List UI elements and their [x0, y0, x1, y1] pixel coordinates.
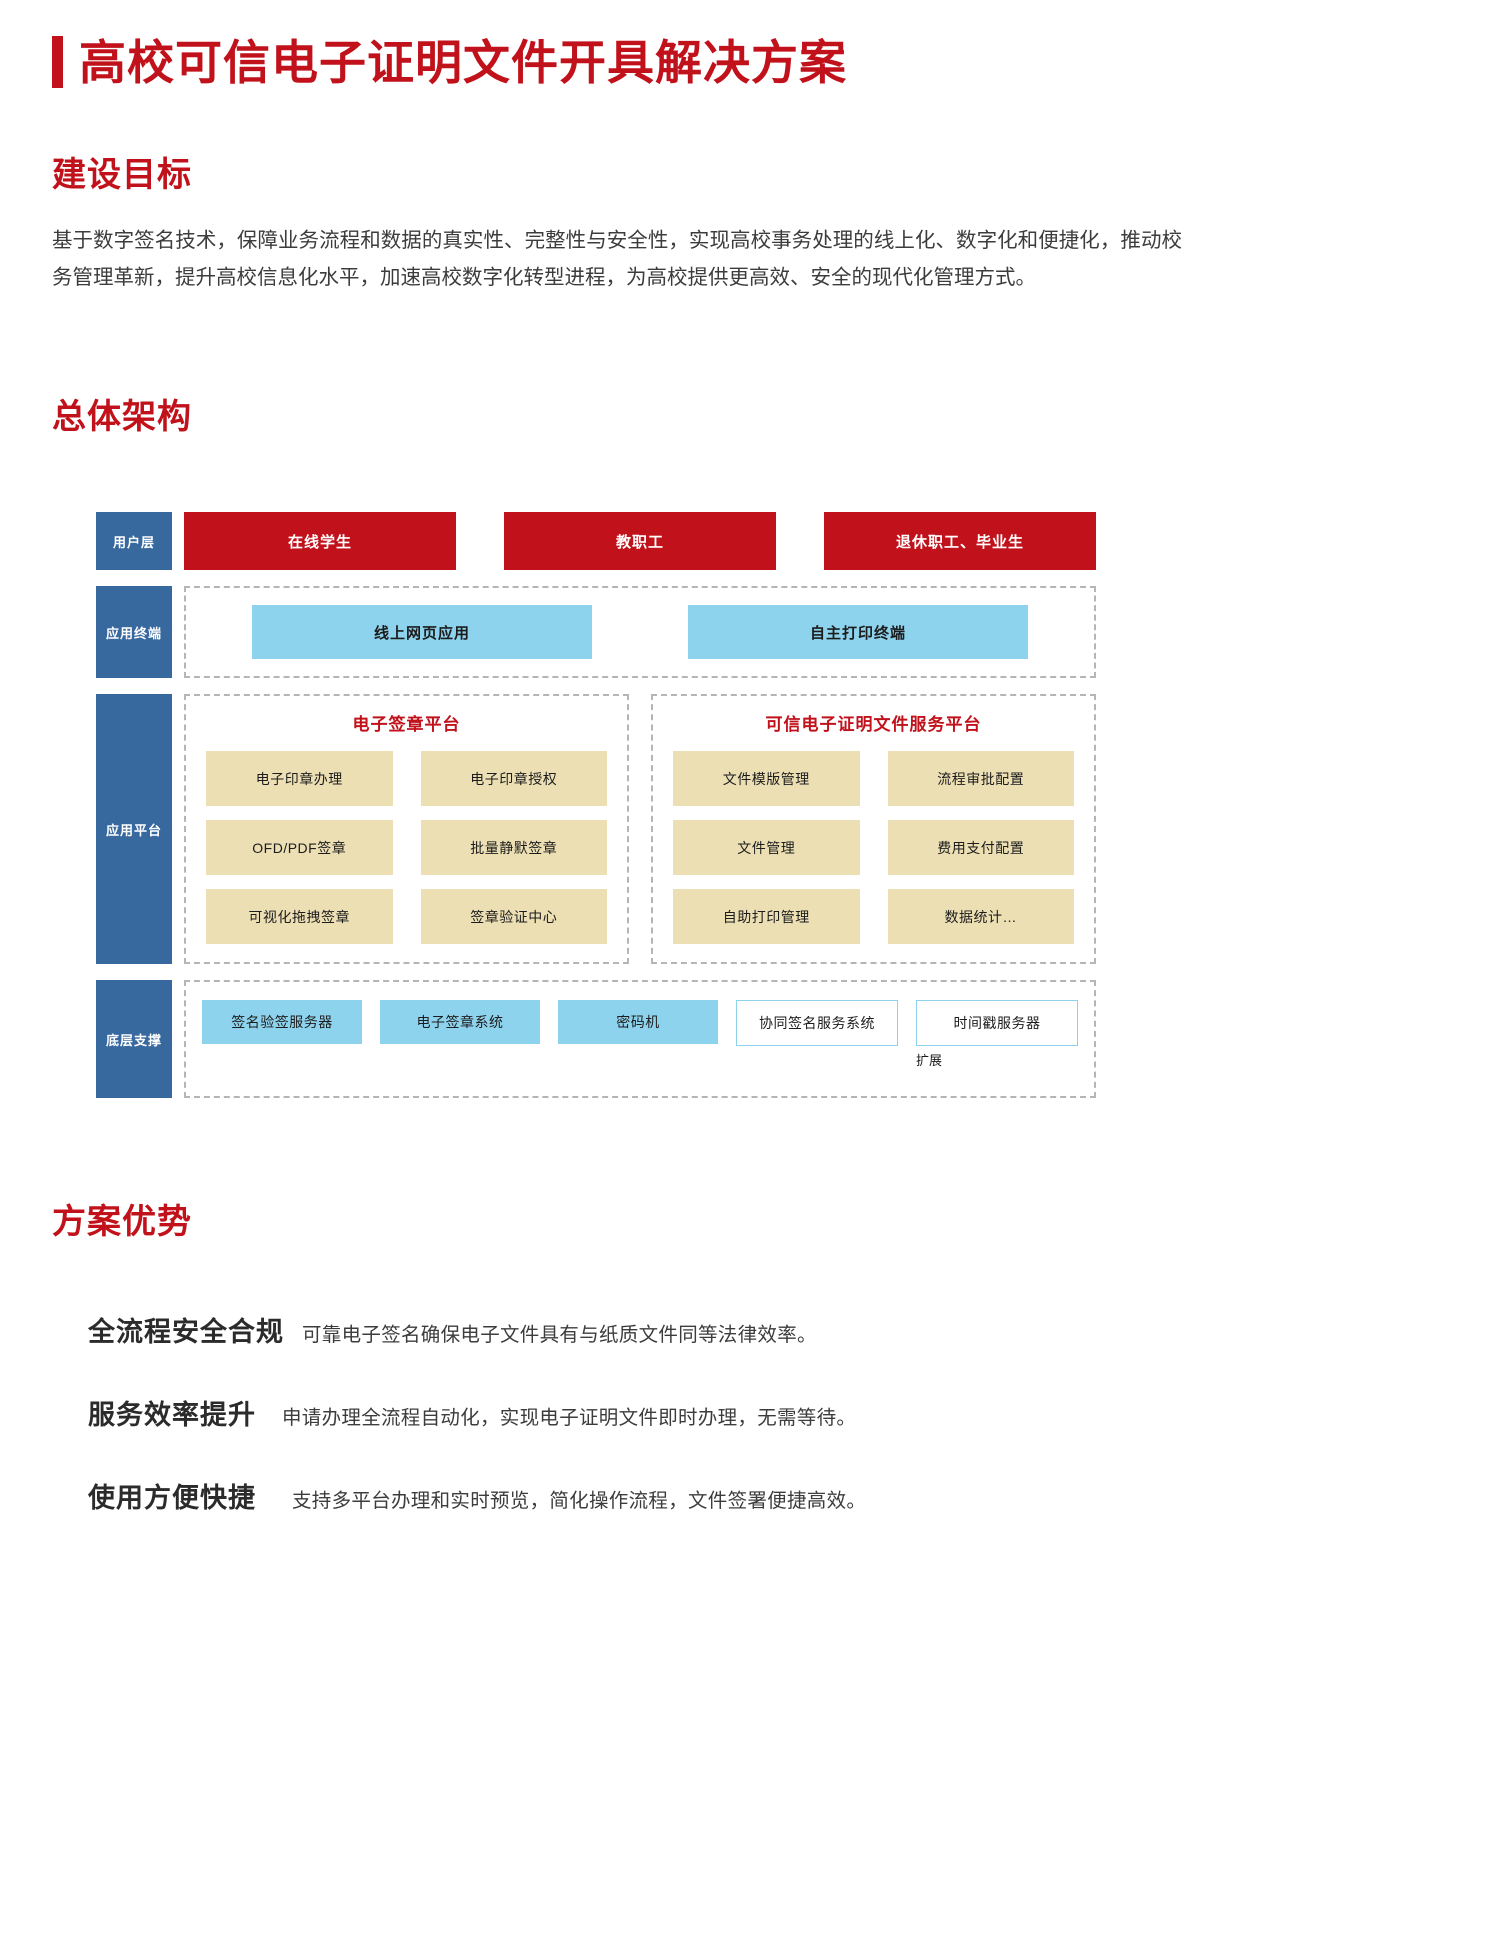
user-box-students[interactable]: 在线学生 — [184, 512, 456, 570]
advantage-item: 使用方便快捷 支持多平台办理和实时预览，简化操作流程，文件签署便捷高效。 — [88, 1476, 1188, 1515]
layer-label-terminal: 应用终端 — [96, 586, 172, 678]
platform-trusted-doc-modules: 文件模版管理 流程审批配置 文件管理 费用支付配置 自助打印管理 数据统计… — [673, 751, 1074, 944]
user-box-retired-alumni[interactable]: 退休职工、毕业生 — [824, 512, 1096, 570]
advantages-list: 全流程安全合规 可靠电子签名确保电子文件具有与纸质文件同等法律效率。 服务效率提… — [88, 1310, 1188, 1559]
module-payment-config[interactable]: 费用支付配置 — [888, 820, 1075, 875]
support-box-crypto-machine[interactable]: 密码机 — [558, 1000, 718, 1044]
terminal-box-web-app[interactable]: 线上网页应用 — [252, 605, 592, 659]
advantage-term: 全流程安全合规 — [88, 1310, 284, 1349]
advantage-description: 申请办理全流程自动化，实现电子证明文件即时办理，无需等待。 — [282, 1401, 856, 1430]
advantage-item: 服务效率提升 申请办理全流程自动化，实现电子证明文件即时办理，无需等待。 — [88, 1393, 1188, 1432]
platform-trusted-doc-title: 可信电子证明文件服务平台 — [673, 710, 1074, 735]
module-approval-config[interactable]: 流程审批配置 — [888, 751, 1075, 806]
module-template-management[interactable]: 文件模版管理 — [673, 751, 860, 806]
module-data-statistics[interactable]: 数据统计… — [888, 889, 1075, 944]
section-heading-architecture: 总体架构 — [52, 400, 192, 434]
advantage-item: 全流程安全合规 可靠电子签名确保电子文件具有与纸质文件同等法律效率。 — [88, 1310, 1188, 1349]
arch-row-terminal-layer: 应用终端 线上网页应用 自主打印终端 — [96, 586, 1096, 678]
terminal-layer-group: 线上网页应用 自主打印终端 — [184, 586, 1096, 678]
user-box-staff[interactable]: 教职工 — [504, 512, 776, 570]
advantage-term: 服务效率提升 — [88, 1393, 256, 1432]
module-seal-apply[interactable]: 电子印章办理 — [206, 751, 393, 806]
layer-label-platform: 应用平台 — [96, 694, 172, 964]
module-self-print-management[interactable]: 自助打印管理 — [673, 889, 860, 944]
layer-label-support: 底层支撑 — [96, 980, 172, 1098]
module-ofd-pdf-sign[interactable]: OFD/PDF签章 — [206, 820, 393, 875]
support-box-esign-system[interactable]: 电子签章系统 — [380, 1000, 540, 1044]
platform-esign-title: 电子签章平台 — [206, 710, 607, 735]
terminal-box-self-print[interactable]: 自主打印终端 — [688, 605, 1028, 659]
platform-esign-modules: 电子印章办理 电子印章授权 OFD/PDF签章 批量静默签章 可视化拖拽签章 签… — [206, 751, 607, 944]
platform-layer-group: 电子签章平台 电子印章办理 电子印章授权 OFD/PDF签章 批量静默签章 可视… — [184, 694, 1096, 964]
module-seal-authorize[interactable]: 电子印章授权 — [421, 751, 608, 806]
user-layer-boxes: 在线学生 教职工 退休职工、毕业生 — [172, 512, 1096, 570]
support-layer-group: 签名验签服务器 电子签章系统 密码机 协同签名服务系统 时间戳服务器 扩展 — [184, 980, 1096, 1098]
platform-trusted-doc: 可信电子证明文件服务平台 文件模版管理 流程审批配置 文件管理 费用支付配置 自… — [651, 694, 1096, 964]
advantage-description: 可靠电子签名确保电子文件具有与纸质文件同等法律效率。 — [302, 1318, 817, 1347]
section-heading-advantages: 方案优势 — [52, 1205, 192, 1239]
arch-row-support-layer: 底层支撑 签名验签服务器 电子签章系统 密码机 协同签名服务系统 时间戳服务器 … — [96, 980, 1096, 1098]
advantage-term: 使用方便快捷 — [88, 1476, 256, 1515]
page-title: 高校可信电子证明文件开具解决方案 — [52, 36, 847, 88]
module-sign-verify-center[interactable]: 签章验证中心 — [421, 889, 608, 944]
platform-esign: 电子签章平台 电子印章办理 电子印章授权 OFD/PDF签章 批量静默签章 可视… — [184, 694, 629, 964]
architecture-diagram: 用户层 在线学生 教职工 退休职工、毕业生 应用终端 线上网页应用 自主打印终端… — [96, 512, 1096, 1098]
advantage-description: 支持多平台办理和实时预览，简化操作流程，文件签署便捷高效。 — [292, 1484, 866, 1513]
support-box-timestamp-server[interactable]: 时间戳服务器 — [916, 1000, 1078, 1046]
module-batch-silent-sign[interactable]: 批量静默签章 — [421, 820, 608, 875]
goal-paragraph: 基于数字签名技术，保障业务流程和数据的真实性、完整性与安全性，实现高校事务处理的… — [52, 222, 1182, 297]
section-heading-goal: 建设目标 — [52, 158, 192, 192]
support-box-collab-sign-service[interactable]: 协同签名服务系统 — [736, 1000, 898, 1046]
support-box-sign-verify-server[interactable]: 签名验签服务器 — [202, 1000, 362, 1044]
arch-row-platform-layer: 应用平台 电子签章平台 电子印章办理 电子印章授权 OFD/PDF签章 批量静默… — [96, 694, 1096, 964]
page-title-text: 高校可信电子证明文件开具解决方案 — [79, 39, 847, 86]
arch-row-user-layer: 用户层 在线学生 教职工 退休职工、毕业生 — [96, 512, 1096, 570]
support-extension-note: 扩展 — [916, 1050, 942, 1069]
module-file-management[interactable]: 文件管理 — [673, 820, 860, 875]
title-accent-bar — [52, 36, 63, 88]
layer-label-user: 用户层 — [96, 512, 172, 570]
module-visual-drag-sign[interactable]: 可视化拖拽签章 — [206, 889, 393, 944]
